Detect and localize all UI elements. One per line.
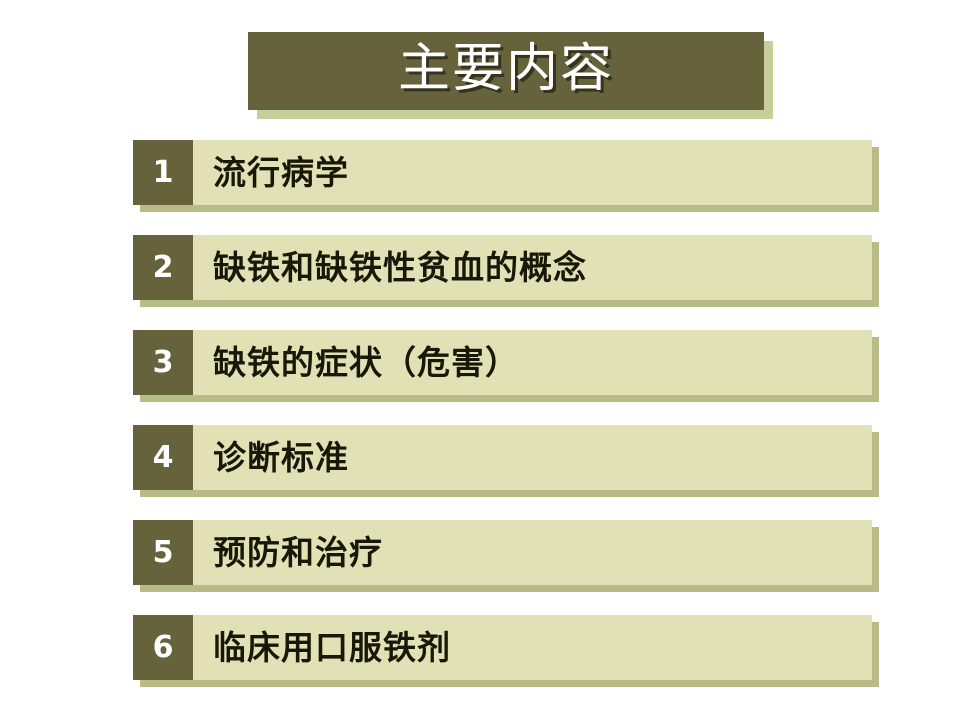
list-item-label: 流行病学 [193,140,872,205]
list-item-label: 临床用口服铁剂 [193,615,872,680]
list-item-label: 诊断标准 [193,425,872,490]
list-item[interactable]: 4 诊断标准 [133,425,878,490]
list-item-number-badge: 4 [133,425,193,490]
list-item[interactable]: 1 流行病学 [133,140,878,205]
list-item-body[interactable]: 1 流行病学 [133,140,872,205]
slide-title-banner: 主要内容 [248,32,764,110]
list-item[interactable]: 2 缺铁和缺铁性贫血的概念 [133,235,878,300]
list-item[interactable]: 6 临床用口服铁剂 [133,615,878,680]
list-item-number-badge: 3 [133,330,193,395]
presentation-slide: 主要内容 1 流行病学 2 缺铁和缺铁性贫血的概念 3 缺铁的症状（危害） [0,0,960,720]
list-item-label: 缺铁的症状（危害） [193,330,872,395]
list-item-body[interactable]: 5 预防和治疗 [133,520,872,585]
list-item-label: 预防和治疗 [193,520,872,585]
list-item-number-badge: 5 [133,520,193,585]
list-item-number-badge: 6 [133,615,193,680]
list-item[interactable]: 3 缺铁的症状（危害） [133,330,878,395]
list-item-body[interactable]: 3 缺铁的症状（危害） [133,330,872,395]
list-item[interactable]: 5 预防和治疗 [133,520,878,585]
list-item-number-badge: 2 [133,235,193,300]
list-item-body[interactable]: 2 缺铁和缺铁性贫血的概念 [133,235,872,300]
page-title: 主要内容 [398,43,614,99]
list-item-body[interactable]: 4 诊断标准 [133,425,872,490]
list-item-label: 缺铁和缺铁性贫血的概念 [193,235,872,300]
table-of-contents-list: 1 流行病学 2 缺铁和缺铁性贫血的概念 3 缺铁的症状（危害） 4 诊断标准 [133,140,878,680]
list-item-body[interactable]: 6 临床用口服铁剂 [133,615,872,680]
slide-title-bar: 主要内容 [248,32,764,110]
list-item-number-badge: 1 [133,140,193,205]
